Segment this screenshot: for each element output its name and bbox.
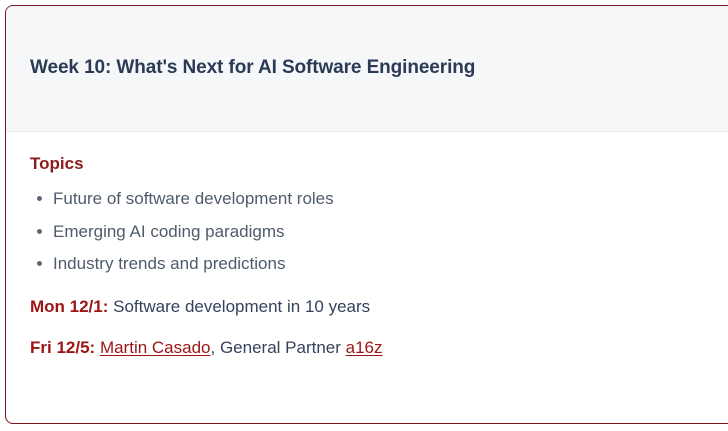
- schedule-entry-mon: Mon 12/1: Software development in 10 yea…: [30, 296, 728, 317]
- schedule-entry-fri: Fri 12/5: Martin Casado, General Partner…: [30, 337, 728, 358]
- card-header: Week 10: What's Next for AI Software Eng…: [6, 6, 728, 132]
- list-item-label: Industry trends and predictions: [53, 254, 285, 273]
- bullet-icon: [37, 229, 42, 234]
- schedule-date-label: Fri 12/5:: [30, 338, 95, 357]
- schedule-date-label: Mon 12/1:: [30, 297, 108, 316]
- schedule-role-text: , General Partner: [211, 338, 346, 357]
- list-item-label: Future of software development roles: [53, 189, 334, 208]
- week-card: Week 10: What's Next for AI Software Eng…: [5, 5, 728, 424]
- topics-list: Future of software development roles Eme…: [30, 188, 728, 274]
- bullet-icon: [37, 196, 42, 201]
- card-body: Topics Future of software development ro…: [6, 132, 728, 359]
- list-item: Future of software development roles: [30, 188, 728, 209]
- speaker-link[interactable]: Martin Casado: [100, 338, 211, 357]
- bullet-icon: [37, 261, 42, 266]
- list-item: Industry trends and predictions: [30, 253, 728, 274]
- page-title: Week 10: What's Next for AI Software Eng…: [30, 56, 475, 81]
- schedule-description: Software development in 10 years: [108, 297, 370, 316]
- topics-heading: Topics: [30, 154, 728, 174]
- list-item: Emerging AI coding paradigms: [30, 221, 728, 242]
- company-link[interactable]: a16z: [346, 338, 383, 357]
- list-item-label: Emerging AI coding paradigms: [53, 222, 285, 241]
